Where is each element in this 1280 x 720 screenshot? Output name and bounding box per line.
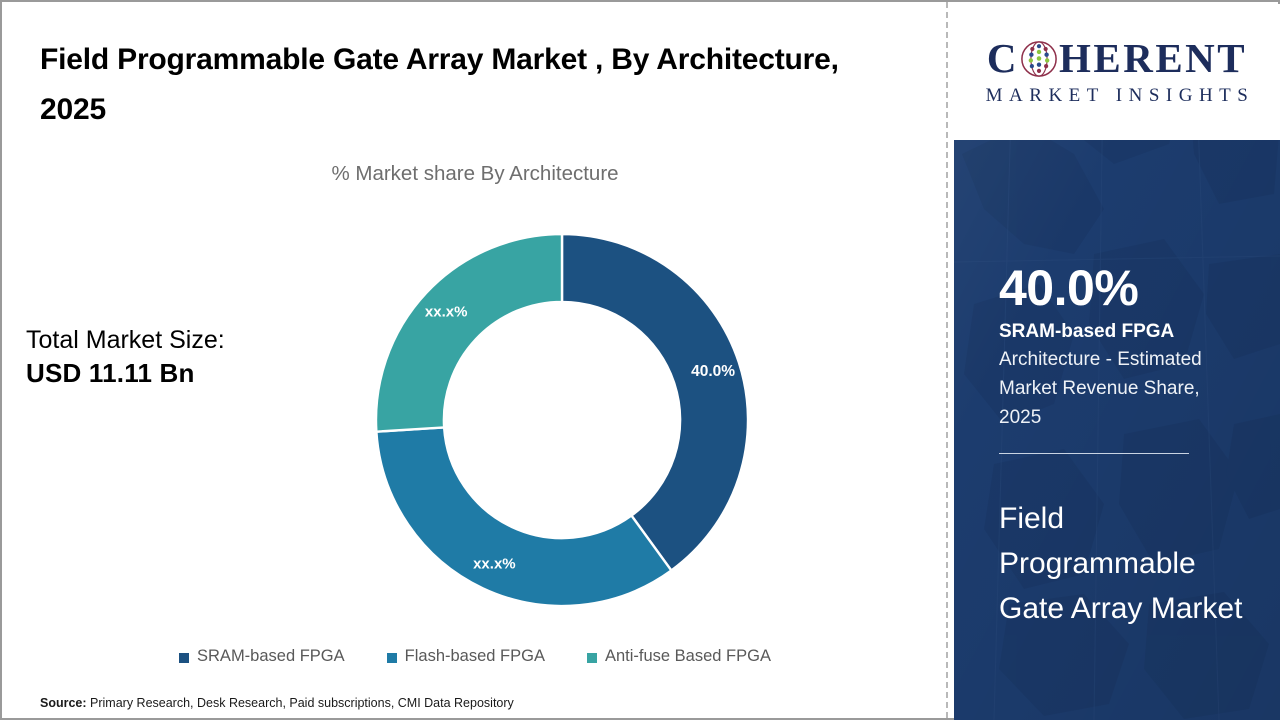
infographic-page: Field Programmable Gate Array Market , B… — [0, 0, 1280, 720]
source-label: Source: — [40, 696, 87, 710]
donut-slice-label: xx.x% — [473, 556, 516, 573]
stat-percent-value: 40.0% — [999, 262, 1247, 314]
legend-item[interactable]: Anti-fuse Based FPGA — [587, 647, 771, 666]
source-text: Primary Research, Desk Research, Paid su… — [87, 696, 514, 710]
page-title: Field Programmable Gate Array Market , B… — [40, 35, 840, 135]
logo-letter-c: C — [987, 38, 1019, 79]
chart-subtitle: % Market share By Architecture — [2, 162, 948, 186]
legend-swatch-icon — [387, 653, 397, 663]
stat-description: Architecture - Estimated Market Revenue … — [999, 346, 1247, 433]
donut-slices — [376, 234, 748, 606]
panel-divider — [946, 2, 948, 718]
highlight-stat-block: 40.0% SRAM-based FPGA Architecture - Est… — [999, 262, 1247, 454]
logo-subtitle: MARKET INSIGHTS — [980, 85, 1255, 107]
logo-text-herent: HERENT — [1059, 38, 1247, 79]
source-note: Source: Primary Research, Desk Research,… — [40, 696, 514, 710]
stat-divider — [999, 453, 1189, 454]
stat-segment-name: SRAM-based FPGA — [999, 320, 1247, 344]
total-market-size-value: USD 11.11 Bn — [26, 356, 326, 390]
donut-chart: 40.0%xx.x%xx.x% — [376, 234, 748, 606]
legend-item[interactable]: SRAM-based FPGA — [179, 647, 345, 666]
legend-label: Flash-based FPGA — [405, 647, 545, 666]
brand-logo: C — [954, 4, 1280, 140]
legend-swatch-icon — [587, 653, 597, 663]
total-market-size-block: Total Market Size: USD 11.11 Bn — [26, 324, 326, 390]
donut-slice[interactable] — [376, 427, 671, 606]
total-market-size-label: Total Market Size: — [26, 324, 326, 356]
legend-item[interactable]: Flash-based FPGA — [387, 647, 545, 666]
donut-slice-label: xx.x% — [425, 303, 468, 320]
right-side-panel: C — [954, 4, 1280, 720]
donut-chart-svg: 40.0%xx.x%xx.x% — [376, 234, 748, 606]
donut-slice-label: 40.0% — [691, 363, 735, 380]
rail-market-name: Field Programmable Gate Array Market — [999, 496, 1249, 631]
legend-label: Anti-fuse Based FPGA — [605, 647, 771, 666]
globe-dot-sphere-icon — [1020, 40, 1058, 78]
donut-slice[interactable] — [376, 234, 562, 432]
donut-slice[interactable] — [562, 234, 748, 570]
legend-swatch-icon — [179, 653, 189, 663]
legend-label: SRAM-based FPGA — [197, 647, 345, 666]
logo-wordmark: C — [987, 38, 1247, 79]
main-content-area: Field Programmable Gate Array Market , B… — [2, 2, 948, 718]
chart-legend: SRAM-based FPGAFlash-based FPGAAnti-fuse… — [2, 647, 948, 666]
